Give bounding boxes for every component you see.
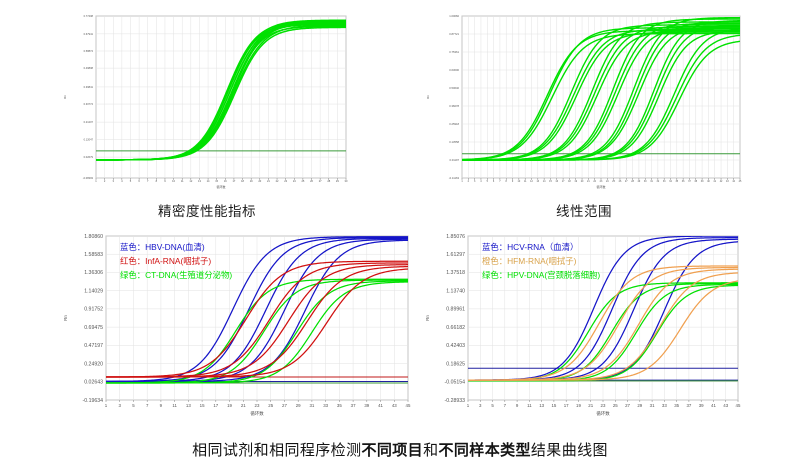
- caption-part2: 和: [423, 442, 438, 459]
- svg-text:0.42403: 0.42403: [446, 343, 465, 349]
- svg-text:44: 44: [732, 180, 735, 183]
- legend-entry: 橙色：HFM-RNA(咽拭子): [482, 256, 577, 266]
- svg-text:17: 17: [562, 180, 565, 183]
- svg-text:0.21207: 0.21207: [84, 120, 94, 124]
- svg-text:40: 40: [707, 180, 710, 183]
- svg-text:11: 11: [181, 179, 184, 183]
- svg-text:5: 5: [132, 403, 135, 408]
- multi-sample-chart: 1.850761.612971.375181.137400.899610.661…: [424, 228, 744, 418]
- svg-text:Rn: Rn: [426, 95, 430, 99]
- svg-text:Rn: Rn: [63, 95, 67, 99]
- svg-text:45: 45: [736, 403, 741, 408]
- svg-text:14: 14: [543, 180, 546, 183]
- svg-text:34: 34: [669, 180, 672, 183]
- svg-text:19: 19: [574, 180, 577, 183]
- svg-text:43: 43: [726, 180, 729, 183]
- svg-text:0.69475: 0.69475: [84, 325, 103, 331]
- panel-multi-target: 1.808601.585831.363061.140290.917520.694…: [62, 228, 414, 418]
- svg-text:11: 11: [172, 403, 177, 408]
- svg-text:17: 17: [564, 403, 569, 408]
- svg-text:3: 3: [474, 180, 476, 183]
- svg-text:36: 36: [682, 180, 685, 183]
- svg-text:0.25918: 0.25918: [449, 122, 459, 126]
- linearity-caption: 线性范围: [424, 200, 744, 220]
- svg-text:9: 9: [516, 403, 519, 408]
- svg-text:3: 3: [113, 179, 115, 183]
- svg-text:31: 31: [309, 403, 314, 408]
- svg-text:0.18625: 0.18625: [446, 361, 465, 367]
- svg-text:18: 18: [568, 180, 571, 183]
- svg-text:循环数: 循环数: [596, 410, 610, 417]
- svg-text:19: 19: [227, 403, 232, 408]
- svg-text:0.02643: 0.02643: [84, 380, 103, 386]
- svg-text:1.13740: 1.13740: [446, 288, 465, 294]
- svg-text:1: 1: [95, 179, 97, 183]
- svg-text:15: 15: [200, 403, 205, 408]
- panel-multi-sample: 1.850761.612971.375181.137400.899610.661…: [424, 228, 744, 418]
- svg-text:1.37518: 1.37518: [446, 270, 465, 276]
- svg-text:27: 27: [625, 403, 630, 408]
- svg-text:28: 28: [631, 180, 634, 183]
- svg-text:4: 4: [121, 179, 123, 183]
- svg-text:24: 24: [293, 179, 296, 183]
- svg-text:31: 31: [650, 403, 655, 408]
- svg-text:25: 25: [613, 403, 618, 408]
- svg-text:23: 23: [601, 403, 606, 408]
- svg-text:1.00082: 1.00082: [449, 14, 459, 18]
- svg-text:15: 15: [549, 180, 552, 183]
- svg-text:15: 15: [215, 179, 218, 183]
- caption-bold1: 不同项目: [361, 442, 423, 459]
- svg-text:Rn: Rn: [63, 315, 68, 321]
- svg-text:29: 29: [336, 179, 339, 183]
- legend-entry: 蓝色：HCV-RNA（血清）: [482, 242, 578, 252]
- svg-text:3: 3: [479, 403, 482, 408]
- svg-text:26: 26: [310, 179, 313, 183]
- svg-text:35: 35: [675, 180, 678, 183]
- svg-text:-0.19634: -0.19634: [83, 398, 104, 404]
- svg-text:10: 10: [172, 179, 175, 183]
- caption-part1: 相同试剂和相同程序检测: [192, 442, 361, 459]
- svg-text:0.39841: 0.39841: [84, 85, 94, 89]
- svg-text:1.61297: 1.61297: [446, 252, 465, 258]
- svg-text:33: 33: [662, 403, 667, 408]
- svg-text:33: 33: [323, 403, 328, 408]
- svg-text:32: 32: [657, 180, 660, 183]
- svg-text:0.77408: 0.77408: [84, 14, 94, 18]
- svg-text:19: 19: [250, 179, 253, 183]
- svg-text:11: 11: [527, 403, 532, 408]
- svg-text:4: 4: [480, 180, 482, 183]
- svg-text:25: 25: [268, 403, 273, 408]
- svg-text:25: 25: [301, 179, 304, 183]
- svg-text:39: 39: [699, 403, 704, 408]
- svg-text:0.30774: 0.30774: [84, 102, 94, 106]
- svg-text:0.49808: 0.49808: [84, 66, 94, 70]
- svg-text:11: 11: [524, 180, 527, 183]
- svg-text:17: 17: [213, 403, 218, 408]
- svg-text:20: 20: [581, 180, 584, 183]
- svg-text:21: 21: [588, 403, 593, 408]
- caption-part3: 结果曲线图: [531, 442, 608, 459]
- svg-text:13: 13: [536, 180, 539, 183]
- svg-text:23: 23: [284, 179, 287, 183]
- svg-text:循环数: 循环数: [216, 184, 225, 189]
- svg-text:1.85076: 1.85076: [446, 234, 465, 240]
- svg-text:0.12047: 0.12047: [84, 137, 94, 141]
- linearity-chart: 1.000820.877210.753610.630000.506400.382…: [424, 8, 744, 194]
- svg-text:1: 1: [467, 403, 470, 408]
- svg-text:9: 9: [160, 403, 163, 408]
- svg-text:28: 28: [327, 179, 330, 183]
- svg-text:37: 37: [351, 403, 356, 408]
- svg-text:6: 6: [138, 179, 140, 183]
- svg-text:45: 45: [739, 180, 742, 183]
- svg-text:19: 19: [576, 403, 581, 408]
- legend-entry: 绿色：CT-DNA(生殖道分泌物): [120, 270, 232, 280]
- svg-text:0.75361: 0.75361: [449, 50, 459, 54]
- svg-text:29: 29: [637, 403, 642, 408]
- svg-text:41: 41: [711, 403, 716, 408]
- legend-entry: 红色：InfA-RNA(咽拭子): [120, 256, 211, 266]
- svg-text:循环数: 循环数: [250, 410, 264, 417]
- svg-text:0.87721: 0.87721: [449, 32, 459, 36]
- svg-text:1.80860: 1.80860: [84, 234, 103, 240]
- figure-caption: 相同试剂和相同程序检测不同项目和不同样本类型结果曲线图: [0, 439, 800, 460]
- qpcr-figure: 0.774080.679410.588740.498080.398410.307…: [0, 0, 800, 470]
- legend-entry: 蓝色：HBV-DNA(血清): [120, 242, 205, 252]
- svg-text:0.02679: 0.02679: [84, 155, 94, 159]
- svg-text:0.13558: 0.13558: [449, 140, 459, 144]
- svg-text:21: 21: [587, 180, 590, 183]
- svg-text:23: 23: [600, 180, 603, 183]
- svg-text:0.47197: 0.47197: [84, 343, 103, 349]
- svg-text:37: 37: [688, 180, 691, 183]
- svg-text:0.89961: 0.89961: [446, 307, 465, 313]
- svg-text:31: 31: [650, 180, 653, 183]
- svg-text:16: 16: [555, 180, 558, 183]
- precision-chart: 0.774080.679410.588740.498080.398410.307…: [62, 8, 352, 194]
- svg-text:21: 21: [241, 403, 246, 408]
- svg-text:37: 37: [686, 403, 691, 408]
- svg-text:5: 5: [491, 403, 494, 408]
- svg-text:29: 29: [638, 180, 641, 183]
- svg-text:3: 3: [119, 403, 122, 408]
- svg-text:Rn: Rn: [425, 315, 430, 321]
- svg-text:30: 30: [644, 180, 647, 183]
- legend-entry: 绿色：HPV-DNA(宫颈脱落细胞): [482, 270, 600, 280]
- svg-text:-0.11163: -0.11163: [449, 176, 460, 180]
- svg-text:9: 9: [512, 180, 514, 183]
- svg-text:7: 7: [146, 403, 149, 408]
- svg-text:7: 7: [504, 403, 507, 408]
- svg-text:循环数: 循环数: [596, 184, 605, 189]
- svg-text:43: 43: [723, 403, 728, 408]
- svg-text:38: 38: [694, 180, 697, 183]
- svg-text:1.58583: 1.58583: [84, 252, 103, 258]
- svg-text:41: 41: [713, 180, 716, 183]
- svg-text:12: 12: [189, 179, 192, 183]
- svg-text:21: 21: [267, 179, 270, 183]
- svg-text:22: 22: [593, 180, 596, 183]
- svg-text:1: 1: [105, 403, 108, 408]
- svg-text:0.38278: 0.38278: [449, 104, 459, 108]
- svg-text:27: 27: [625, 180, 628, 183]
- svg-text:18: 18: [241, 179, 244, 183]
- svg-text:24: 24: [606, 180, 609, 183]
- svg-text:41: 41: [378, 403, 383, 408]
- caption-bold2: 不同样本类型: [439, 442, 531, 459]
- svg-text:9: 9: [164, 179, 166, 183]
- svg-text:8: 8: [506, 180, 508, 183]
- svg-text:43: 43: [392, 403, 397, 408]
- svg-text:7: 7: [147, 179, 149, 183]
- svg-text:-0.08393: -0.08393: [83, 176, 94, 180]
- svg-text:-0.28933: -0.28933: [445, 398, 466, 404]
- svg-text:27: 27: [282, 403, 287, 408]
- svg-text:0.66182: 0.66182: [446, 325, 465, 331]
- svg-text:33: 33: [663, 180, 666, 183]
- svg-text:0.91752: 0.91752: [84, 307, 103, 313]
- svg-text:2: 2: [104, 179, 106, 183]
- svg-text:22: 22: [276, 179, 279, 183]
- svg-text:42: 42: [720, 180, 723, 183]
- svg-text:16: 16: [224, 179, 227, 183]
- svg-text:20: 20: [258, 179, 261, 183]
- svg-text:45: 45: [406, 403, 411, 408]
- svg-text:0.50640: 0.50640: [449, 86, 459, 90]
- svg-text:13: 13: [198, 179, 201, 183]
- svg-text:17: 17: [232, 179, 235, 183]
- svg-text:35: 35: [337, 403, 342, 408]
- svg-text:10: 10: [518, 180, 521, 183]
- svg-text:0.24920: 0.24920: [84, 361, 103, 367]
- svg-text:26: 26: [619, 180, 622, 183]
- panel-precision: 0.774080.679410.588740.498080.398410.307…: [62, 8, 352, 194]
- svg-text:5: 5: [130, 179, 132, 183]
- svg-text:8: 8: [156, 179, 158, 183]
- svg-text:0.67941: 0.67941: [84, 32, 94, 36]
- svg-text:13: 13: [539, 403, 544, 408]
- svg-text:5: 5: [487, 180, 489, 183]
- svg-text:1: 1: [461, 180, 463, 183]
- svg-text:1.36306: 1.36306: [84, 270, 103, 276]
- svg-text:13: 13: [186, 403, 191, 408]
- svg-text:12: 12: [530, 180, 533, 183]
- svg-text:29: 29: [296, 403, 301, 408]
- svg-text:7: 7: [499, 180, 501, 183]
- svg-text:0.01197: 0.01197: [449, 158, 459, 162]
- svg-text:-0.05154: -0.05154: [445, 380, 466, 386]
- svg-text:14: 14: [207, 179, 210, 183]
- svg-text:39: 39: [701, 180, 704, 183]
- svg-text:0.58874: 0.58874: [84, 49, 94, 53]
- svg-text:27: 27: [319, 179, 322, 183]
- svg-text:6: 6: [493, 180, 495, 183]
- plot-frame: [96, 16, 346, 178]
- panel-linearity: 1.000820.877210.753610.630000.506400.382…: [424, 8, 744, 194]
- svg-text:15: 15: [551, 403, 556, 408]
- svg-text:0.63000: 0.63000: [449, 68, 459, 72]
- svg-text:23: 23: [255, 403, 260, 408]
- multi-target-chart: 1.808601.585831.363061.140290.917520.694…: [62, 228, 414, 418]
- svg-text:30: 30: [345, 179, 348, 183]
- svg-text:39: 39: [364, 403, 369, 408]
- precision-caption: 精密度性能指标: [62, 200, 352, 220]
- svg-text:35: 35: [674, 403, 679, 408]
- svg-text:2: 2: [468, 180, 470, 183]
- svg-text:25: 25: [612, 180, 615, 183]
- svg-text:1.14029: 1.14029: [84, 288, 103, 294]
